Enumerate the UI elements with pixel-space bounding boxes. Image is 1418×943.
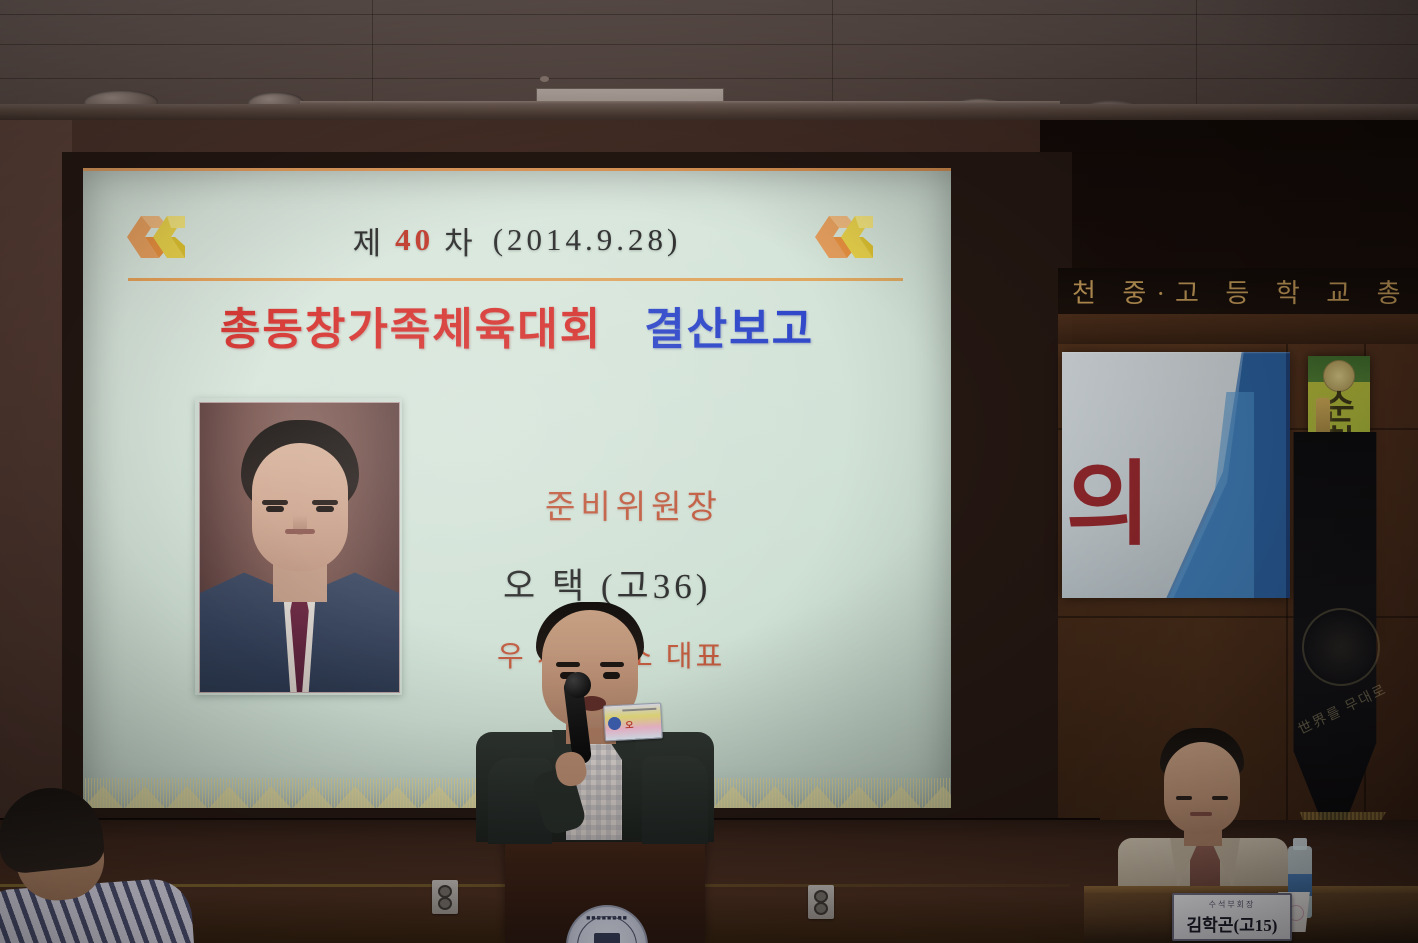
ceiling-tile-seam (0, 14, 1418, 15)
slide-divider-rule (128, 278, 903, 281)
poster-character: 의 (1066, 430, 1151, 563)
slide-top-border (83, 168, 951, 171)
portrait-face (252, 443, 348, 571)
overhead-banner-text: 천 중·고 등 학 교 총 (1058, 273, 1411, 310)
portrait-mouth (285, 529, 315, 534)
portrait-eye (316, 506, 334, 512)
nameplate: 수석부회장 김학곤(고15) (1172, 893, 1292, 941)
slide-header-number: 40 (395, 222, 434, 258)
wall-outlet-left (432, 880, 458, 914)
seated-official-person: 김 (1118, 728, 1288, 900)
banner-seal-icon (1323, 360, 1355, 392)
presenter-portrait-photo (195, 398, 402, 695)
slide-header-date: (2014.9.28) (493, 222, 682, 258)
ceiling-tile-seam (0, 44, 1418, 45)
seated-official-mouth (1190, 812, 1212, 816)
presenter-name-badge: 오 (603, 703, 663, 742)
presenter-arm (642, 756, 708, 844)
wall-outlet-right (808, 885, 834, 919)
presenter-badge-name: 오 (625, 718, 634, 731)
slide-title-blue: 결산보고 (644, 305, 814, 354)
banner-strip (1058, 314, 1418, 344)
ceiling-tile-seam (1196, 0, 1197, 120)
slide-header-prefix: 제 (353, 218, 386, 263)
portrait-eyebrow (262, 500, 288, 505)
slide-title: 총동창가족체육대회 결산보고 (83, 293, 951, 357)
wall-poster: 의 (1062, 352, 1290, 598)
slide-title-red: 총동창가족체육대회 (220, 305, 602, 354)
slide-header-suffix: 차 (444, 218, 477, 263)
ceiling-trim (0, 104, 1418, 120)
flag-emblem-icon (1302, 608, 1380, 686)
slide-header: 제 40 차 (2014.9.28) (83, 210, 951, 270)
audience-member (0, 788, 188, 943)
ceiling-tile-seam (0, 78, 1418, 79)
portrait-eye (266, 506, 284, 512)
nameplate-name: 김학곤(고15) (1187, 911, 1278, 936)
overhead-banner: 천 중·고 등 학 교 총 (1058, 268, 1418, 314)
portrait-eyebrow (312, 500, 338, 505)
seated-official-head (1164, 742, 1240, 834)
smoke-detector-icon (540, 76, 549, 82)
presenter-role: 준비위원장 (545, 480, 943, 528)
audience-member-hair (0, 783, 106, 875)
nameplate-role: 수석부회장 (1209, 899, 1256, 910)
photo-scene: 제 40 차 (2014.9.28) 총동창가족체육대회 결산보고 (0, 0, 1418, 943)
presenter-person: 오 (470, 600, 720, 830)
badge-seal-icon (608, 717, 622, 731)
